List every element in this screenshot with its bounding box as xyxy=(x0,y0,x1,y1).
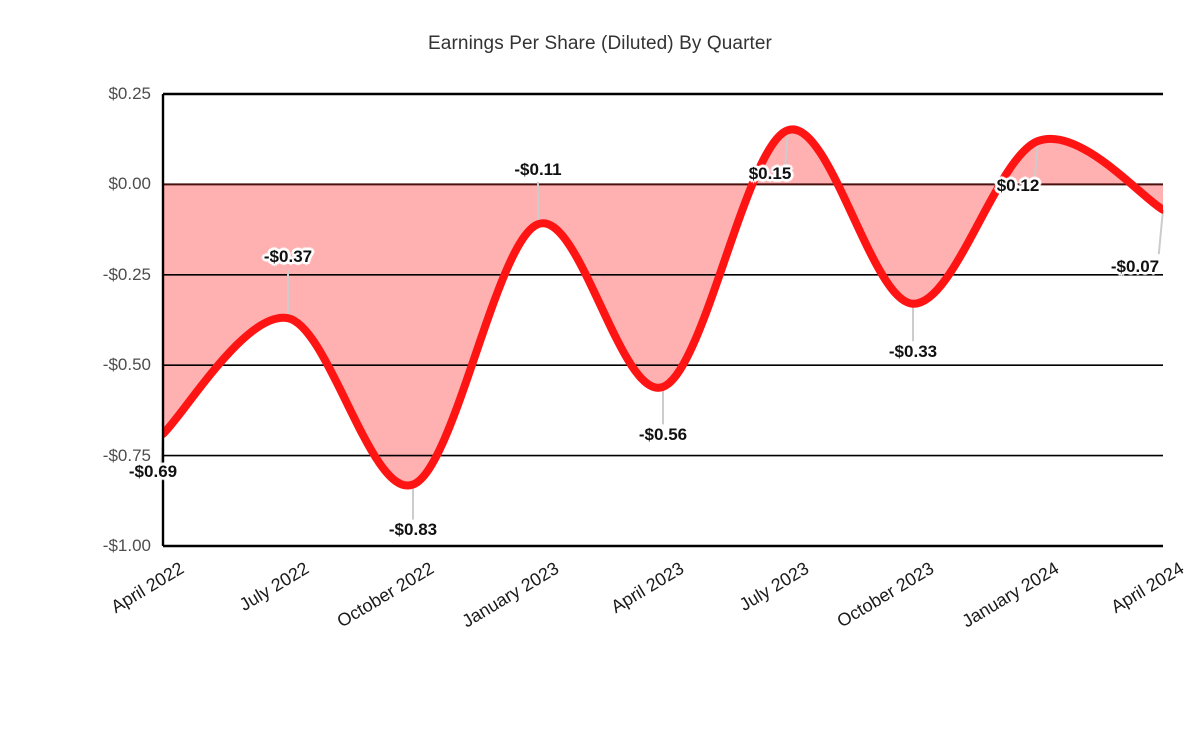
y-tick-label: $0.25 xyxy=(81,84,151,104)
y-tick-label: $0.00 xyxy=(81,174,151,194)
chart-container: Earnings Per Share (Diluted) By Quarter … xyxy=(0,0,1200,742)
area-fill xyxy=(163,129,1163,485)
y-tick-label: -$0.50 xyxy=(81,355,151,375)
leader-line xyxy=(1159,210,1163,254)
y-tick-label: -$0.25 xyxy=(81,265,151,285)
y-tick-label: -$0.75 xyxy=(81,446,151,466)
y-tick-label: -$1.00 xyxy=(81,536,151,556)
chart-title: Earnings Per Share (Diluted) By Quarter xyxy=(0,33,1200,55)
area-fill-group xyxy=(163,129,1163,485)
